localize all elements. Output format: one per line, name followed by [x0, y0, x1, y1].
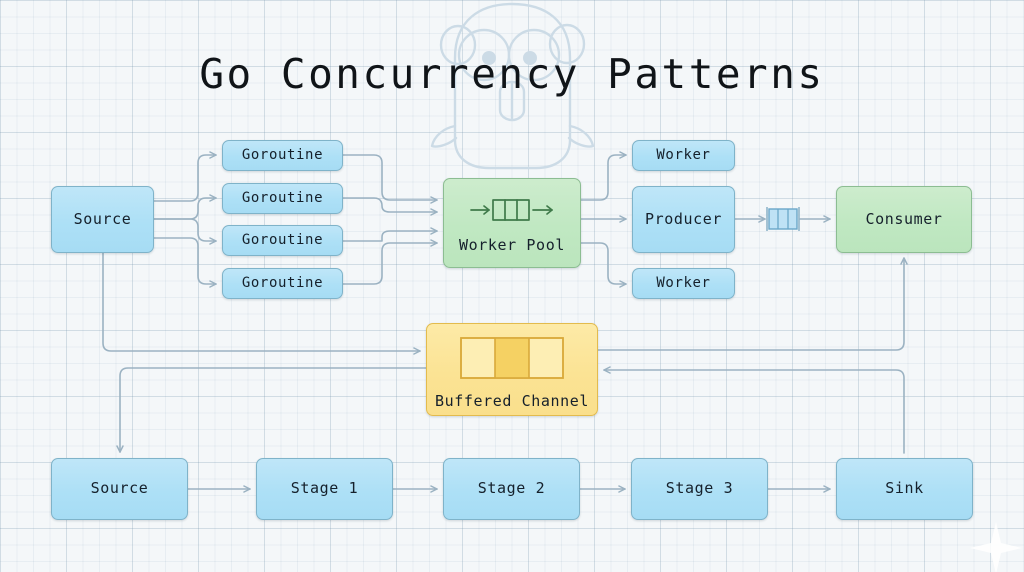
node-label: Goroutine	[242, 275, 323, 291]
inline-channel-icon	[767, 207, 799, 231]
edge-source-to-goroutine-1	[154, 155, 216, 201]
node-buffered-channel[interactable]: Buffered Channel	[426, 323, 598, 416]
node-pipe-stage-1[interactable]: Stage 1	[256, 458, 393, 520]
node-goroutine-4[interactable]: Goroutine	[222, 268, 343, 299]
edge-source-to-goroutine-3	[154, 219, 216, 241]
node-pipe-sink[interactable]: Sink	[836, 458, 973, 520]
node-label: Goroutine	[242, 147, 323, 163]
edge-source-to-goroutine-2	[154, 198, 216, 219]
edge-goroutine-3-to-worker-pool	[343, 231, 437, 241]
node-label: Producer	[645, 211, 722, 228]
node-label: Stage 2	[478, 480, 545, 497]
page-title: Go Concurrency Patterns	[0, 50, 1024, 98]
sparkle-star	[970, 522, 1022, 572]
node-label: Worker	[656, 147, 710, 163]
node-label: Sink	[885, 480, 924, 497]
node-worker-pool[interactable]: Worker Pool	[443, 178, 581, 268]
node-label: Goroutine	[242, 232, 323, 248]
node-label: Consumer	[865, 211, 942, 228]
node-label: Stage 3	[666, 480, 733, 497]
node-label: Source	[91, 480, 149, 497]
node-label: Source	[74, 211, 132, 228]
node-worker-top[interactable]: Worker	[632, 140, 735, 171]
node-pipe-stage-3[interactable]: Stage 3	[631, 458, 768, 520]
node-pipe-source[interactable]: Source	[51, 458, 188, 520]
edge-sink-to-buffered-channel	[604, 370, 904, 453]
diagram-canvas: Go Concurrency Patterns	[0, 0, 1024, 572]
node-goroutine-1[interactable]: Goroutine	[222, 140, 343, 171]
node-pipe-stage-2[interactable]: Stage 2	[443, 458, 580, 520]
edge-goroutine-4-to-worker-pool	[343, 243, 437, 284]
node-producer[interactable]: Producer	[632, 186, 735, 253]
node-consumer[interactable]: Consumer	[836, 186, 972, 253]
node-goroutine-3[interactable]: Goroutine	[222, 225, 343, 256]
edge-worker-pool-to-worker-bottom	[581, 243, 626, 284]
node-fan-out-source[interactable]: Source	[51, 186, 154, 253]
node-goroutine-2[interactable]: Goroutine	[222, 183, 343, 214]
buffer-slots-icon	[460, 337, 564, 379]
edge-worker-pool-to-worker-top	[581, 155, 626, 200]
channel-icon	[468, 197, 556, 223]
node-label: Worker	[656, 275, 710, 291]
edge-goroutine-1-to-worker-pool	[343, 155, 437, 200]
node-label: Goroutine	[242, 190, 323, 206]
node-label: Worker Pool	[459, 237, 565, 254]
node-label: Stage 1	[291, 480, 358, 497]
node-worker-bottom[interactable]: Worker	[632, 268, 735, 299]
node-label: Buffered Channel	[435, 393, 589, 410]
edge-source-to-goroutine-4	[154, 238, 216, 284]
edge-buffered-channel-to-pipe-source	[120, 368, 426, 452]
edge-goroutine-2-to-worker-pool	[343, 198, 437, 212]
